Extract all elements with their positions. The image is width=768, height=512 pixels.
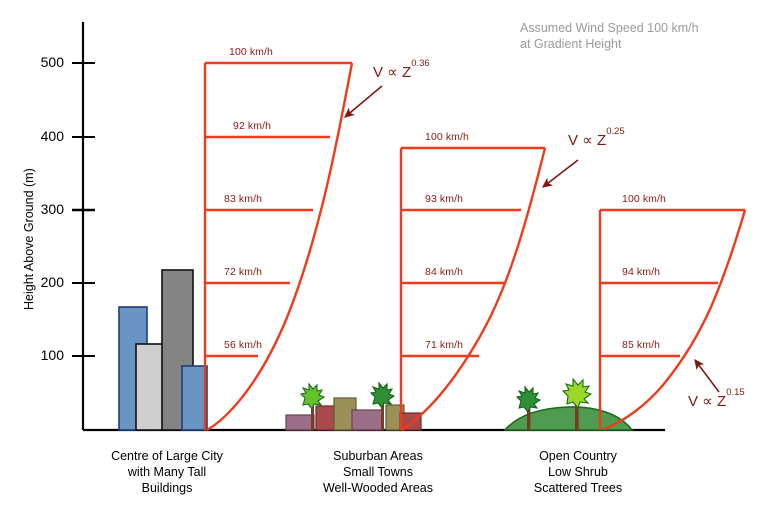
terrain-caption-city: Centre of Large City with Many Tall Buil… xyxy=(62,448,272,496)
speed-label-c1-83: 83 km/h xyxy=(224,193,262,205)
arrow-to-curve-1 xyxy=(345,86,382,117)
terrain-caption-suburban: Suburban Areas Small Towns Well-Wooded A… xyxy=(278,448,478,496)
building-blue-2 xyxy=(182,366,207,430)
y-tick-label-500: 500 xyxy=(18,54,64,70)
wind-profile-curve-2 xyxy=(401,148,545,430)
suburb-building-4 xyxy=(352,410,383,430)
power-law-base-1: V ∝ Z xyxy=(373,64,411,81)
speed-label-c2-71: 71 km/h xyxy=(425,339,463,351)
terrain-caption-open-country-line-2: Low Shrub xyxy=(478,464,678,480)
arrow-to-curve-2 xyxy=(543,160,578,187)
power-law-label-1: V ∝ Z0.36 xyxy=(373,63,430,81)
y-tick-label-400: 400 xyxy=(18,128,64,144)
assumed-line-1: Assumed Wind Speed 100 km/h xyxy=(520,20,699,36)
speed-label-c1-72: 72 km/h xyxy=(224,266,262,278)
building-lightgray xyxy=(136,344,163,430)
terrain-caption-suburban-line-1: Suburban Areas xyxy=(278,448,478,464)
speed-label-c3-100: 100 km/h xyxy=(622,193,666,205)
suburb-building-1 xyxy=(286,415,314,430)
y-tick-label-200: 200 xyxy=(18,274,64,290)
power-law-base-3: V ∝ Z xyxy=(688,393,726,410)
terrain-caption-city-line-1: Centre of Large City xyxy=(62,448,272,464)
power-law-label-3: V ∝ Z0.15 xyxy=(688,392,745,410)
hill-shape xyxy=(505,407,632,430)
terrain-caption-city-line-3: Buildings xyxy=(62,480,272,496)
speed-label-c1-56: 56 km/h xyxy=(224,339,262,351)
wind-profile-diagram: Height Above Ground (m) 500 400 300 200 … xyxy=(0,0,768,512)
speed-label-c3-94: 94 km/h xyxy=(622,266,660,278)
power-law-base-2: V ∝ Z xyxy=(568,132,606,149)
city-buildings-group xyxy=(119,270,207,430)
speed-label-c2-100: 100 km/h xyxy=(425,131,469,143)
terrain-caption-open-country-line-1: Open Country xyxy=(478,448,678,464)
assumed-wind-speed-note: Assumed Wind Speed 100 km/h at Gradient … xyxy=(520,20,699,52)
speed-label-c1-100: 100 km/h xyxy=(229,46,273,58)
terrain-caption-suburban-line-3: Well-Wooded Areas xyxy=(278,480,478,496)
power-law-exponent-2: 0.25 xyxy=(606,126,625,137)
y-tick-label-300: 300 xyxy=(18,201,64,217)
speed-label-c2-84: 84 km/h xyxy=(425,266,463,278)
terrain-caption-city-line-2: with Many Tall xyxy=(62,464,272,480)
open-country-scene-group xyxy=(505,379,632,430)
arrow-to-curve-3 xyxy=(695,360,719,392)
assumed-line-2: at Gradient Height xyxy=(520,36,699,52)
wind-profile-curve-1 xyxy=(205,63,352,430)
suburb-building-6 xyxy=(400,413,421,430)
power-law-label-2: V ∝ Z0.25 xyxy=(568,131,625,149)
speed-label-c3-85: 85 km/h xyxy=(622,339,660,351)
terrain-caption-suburban-line-2: Small Towns xyxy=(278,464,478,480)
terrain-caption-open-country: Open Country Low Shrub Scattered Trees xyxy=(478,448,678,496)
power-law-exponent-3: 0.15 xyxy=(726,387,745,398)
power-law-exponent-1: 0.36 xyxy=(411,58,430,69)
profile1-curve xyxy=(207,63,352,430)
terrain-caption-open-country-line-3: Scattered Trees xyxy=(478,480,678,496)
y-tick-label-100: 100 xyxy=(18,347,64,363)
profile2-curve xyxy=(402,148,545,430)
speed-label-c2-93: 93 km/h xyxy=(425,193,463,205)
speed-label-c1-92: 92 km/h xyxy=(233,120,271,132)
